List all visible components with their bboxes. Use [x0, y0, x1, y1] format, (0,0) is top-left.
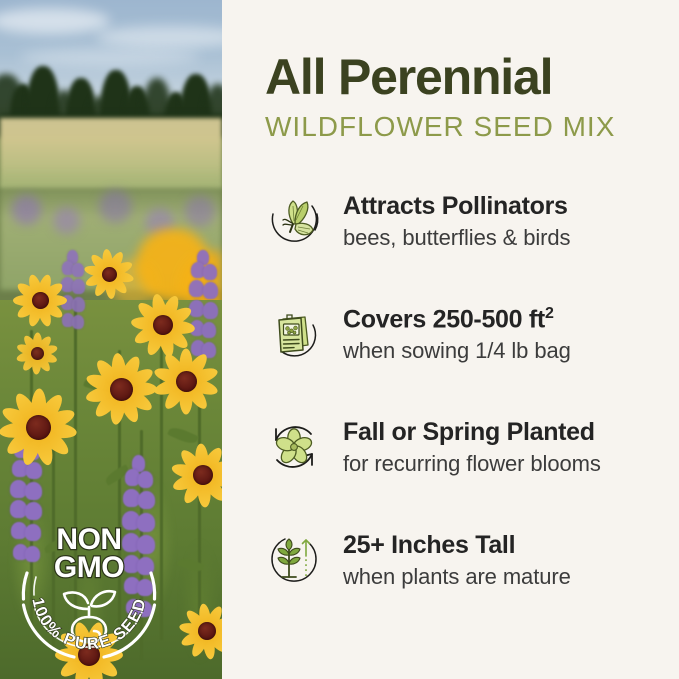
- recycle-flower-icon: [265, 418, 323, 476]
- feature-row-plant-height: 25+ Inches Tall when plants are mature: [265, 524, 645, 596]
- feature-text: Attracts Pollinators bees, butterflies &…: [343, 191, 570, 252]
- feature-text: Covers 250-500 ft2 when sowing 1/4 lb ba…: [343, 304, 571, 365]
- butterfly-icon: [265, 192, 323, 250]
- black-eyed-susan-flower: [10, 270, 70, 330]
- black-eyed-susan-flower: [0, 385, 80, 469]
- feature-heading-superscript: 2: [545, 305, 554, 322]
- feature-row-planting-season: Fall or Spring Planted for recurring flo…: [265, 411, 645, 483]
- feature-heading: Attracts Pollinators: [343, 192, 570, 222]
- non-gmo-badge: NON GMO · 100% PURE SEED ·: [14, 517, 164, 667]
- feature-row-attracts-pollinators: Attracts Pollinators bees, butterflies &…: [265, 185, 645, 257]
- page-subtitle: WILDFLOWER SEED MIX: [265, 112, 645, 141]
- feature-heading-main: Covers 250-500 ft: [343, 305, 545, 333]
- feature-subtext: bees, butterflies & birds: [343, 224, 570, 252]
- badge-line2: GMO: [54, 551, 124, 584]
- cloud: [0, 8, 110, 34]
- feature-heading: 25+ Inches Tall: [343, 531, 571, 561]
- seed-packet-icon: [265, 305, 323, 363]
- feature-row-coverage: Covers 250-500 ft2 when sowing 1/4 lb ba…: [265, 298, 645, 370]
- page-title: All Perennial: [265, 52, 645, 103]
- black-eyed-susan-flower: [150, 345, 222, 417]
- feature-heading: Covers 250-500 ft2: [343, 305, 571, 335]
- black-eyed-susan-flower: [168, 440, 222, 510]
- feature-text: Fall or Spring Planted for recurring flo…: [343, 417, 601, 478]
- feature-list: Attracts Pollinators bees, butterflies &…: [265, 185, 645, 596]
- product-info-panel: All Perennial WILDFLOWER SEED MIX: [222, 0, 679, 679]
- black-eyed-susan-flower: [14, 330, 60, 376]
- feature-subtext: when plants are mature: [343, 563, 571, 591]
- product-image-card: NON GMO · 100% PURE SEED · All Perennial: [0, 0, 679, 679]
- feature-text: 25+ Inches Tall when plants are mature: [343, 530, 571, 591]
- black-eyed-susan-flower: [82, 350, 160, 428]
- feature-subtext: for recurring flower blooms: [343, 450, 601, 478]
- cloud: [96, 26, 222, 48]
- plant-height-icon: [265, 531, 323, 589]
- feature-subtext: when sowing 1/4 lb bag: [343, 337, 571, 365]
- wildflower-meadow-photo: NON GMO · 100% PURE SEED ·: [0, 0, 222, 679]
- black-eyed-susan-flower: [176, 600, 222, 662]
- feature-heading: Fall or Spring Planted: [343, 418, 601, 448]
